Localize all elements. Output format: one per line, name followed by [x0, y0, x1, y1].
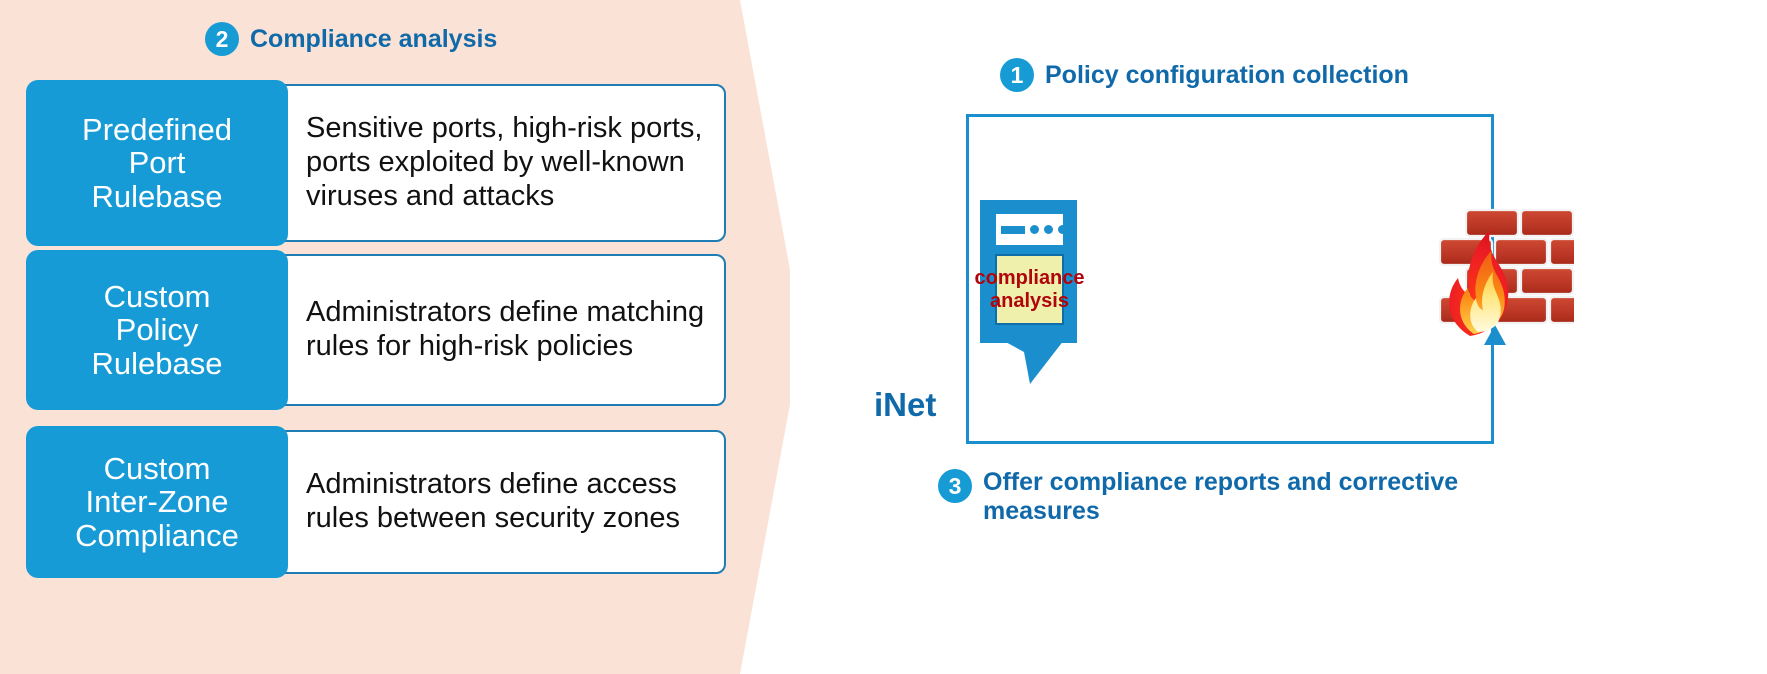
rule-tag-line: Compliance	[75, 519, 239, 552]
callout-line: analysis	[990, 290, 1069, 312]
rule-row[interactable]: Custom Inter-Zone Compliance Administrat…	[26, 430, 726, 574]
device-dot-icon	[1058, 225, 1067, 234]
callout-line: compliance	[974, 267, 1084, 289]
rule-description: Sensitive ports, high-risk ports, ports …	[288, 84, 726, 242]
rule-tag-line: Inter-Zone	[85, 485, 228, 518]
diagram-canvas: 2 Compliance analysis Predefined Port Ru…	[0, 0, 1767, 674]
rule-description: Administrators define access rules betwe…	[288, 430, 726, 574]
step-1-badge: 1	[1000, 58, 1034, 92]
step-2-badge: 2	[205, 22, 239, 56]
step-3-badge: 3	[938, 469, 972, 503]
rule-tag-line: Rulebase	[92, 180, 223, 213]
device-dot-icon	[1030, 225, 1039, 234]
rule-tag: Predefined Port Rulebase	[26, 80, 288, 246]
rule-tag: Custom Inter-Zone Compliance	[26, 426, 288, 578]
rule-row[interactable]: Custom Policy Rulebase Administrators de…	[26, 254, 726, 406]
firewall-brick-flame-icon	[1424, 208, 1574, 338]
device-dot-icon	[1044, 225, 1053, 234]
step-1-title: Policy configuration collection	[1045, 61, 1409, 90]
step-1-header: 1 Policy configuration collection	[1000, 58, 1409, 92]
rule-row[interactable]: Predefined Port Rulebase Sensitive ports…	[26, 84, 726, 242]
inet-device[interactable]: compliance analysis	[980, 200, 1077, 343]
step-2-title: Compliance analysis	[250, 25, 497, 54]
device-bar-icon	[1001, 226, 1025, 234]
step-3-header: 3 Offer compliance reports and correctiv…	[938, 468, 1538, 526]
rule-tag: Custom Policy Rulebase	[26, 250, 288, 410]
rule-tag-line: Custom	[104, 452, 211, 485]
rule-tag-line: Rulebase	[92, 347, 223, 380]
rule-description: Administrators define matching rules for…	[288, 254, 726, 406]
step-2-header: 2 Compliance analysis	[205, 22, 497, 56]
rule-tag-line: Predefined	[82, 113, 232, 146]
step-3-title: Offer compliance reports and corrective …	[983, 468, 1538, 526]
rule-tag-line: Port	[129, 146, 186, 179]
rule-tag-line: Policy	[116, 313, 199, 346]
inet-label: iNet	[874, 386, 936, 424]
device-status-strip	[996, 214, 1063, 245]
rule-tag-line: Custom	[104, 280, 211, 313]
compliance-analysis-callout: compliance analysis	[995, 254, 1064, 325]
